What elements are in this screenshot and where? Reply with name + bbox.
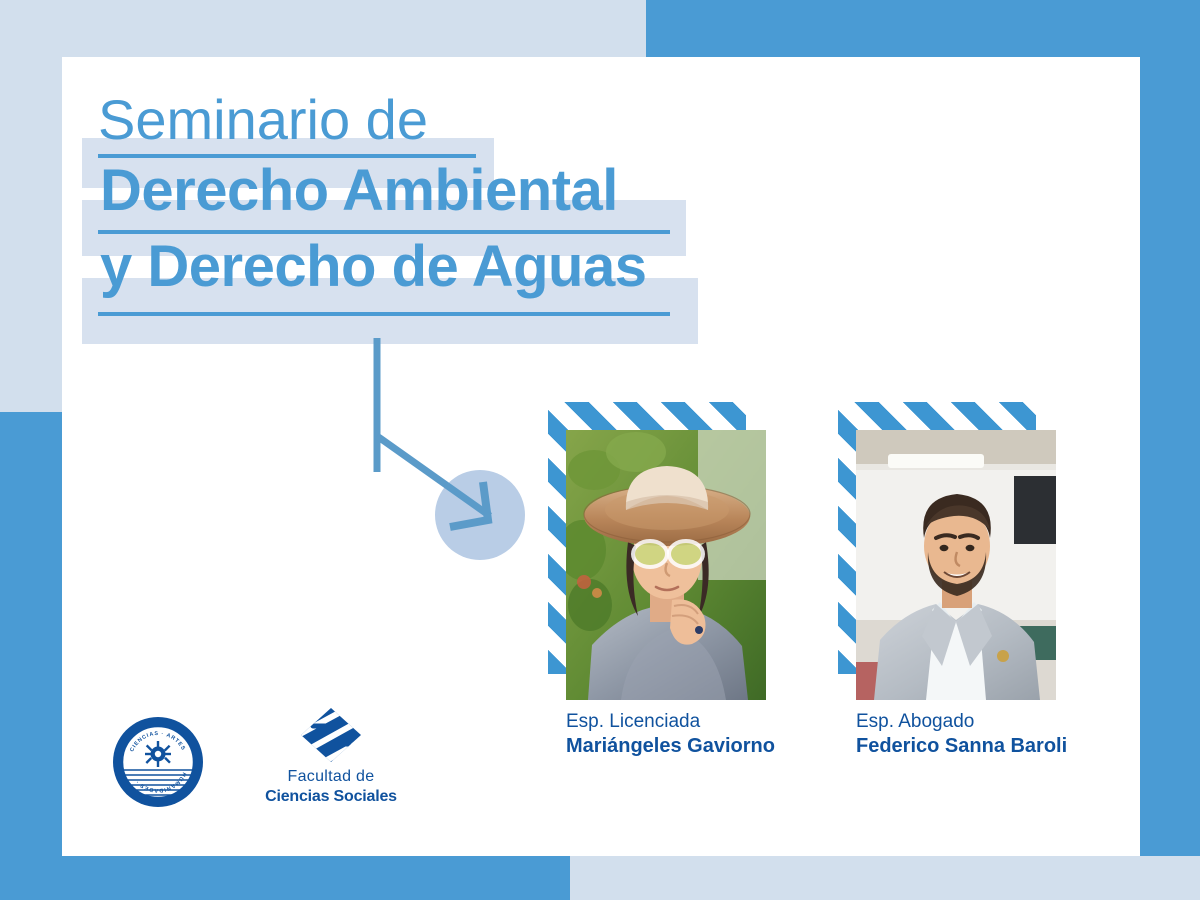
faculty-logo-line-1: Facultad de [262, 768, 400, 786]
down-right-arrow-icon [355, 330, 535, 570]
faculty-logo-line-2: Ciencias Sociales [262, 788, 400, 806]
poster-canvas: Seminario de Derecho Ambiental y Derecho… [0, 0, 1200, 900]
decor-block-right [1140, 0, 1200, 856]
title-underline-3 [98, 312, 670, 316]
decor-block-bottom-left [0, 856, 570, 900]
title-line-2-text: Derecho Ambiental [100, 162, 618, 220]
speaker-caption: Esp. Abogado Federico Sanna Baroli [856, 710, 1116, 759]
speaker-role: Esp. Abogado [856, 710, 1116, 734]
speaker-photo [566, 430, 766, 700]
title-line-3-text: y Derecho de Aguas [100, 238, 646, 296]
faculty-logo: Facultad de Ciencias Sociales [262, 706, 400, 806]
speaker-name: Federico Sanna Baroli [856, 734, 1116, 759]
title-line-2: Derecho Ambiental [88, 162, 606, 242]
speaker-caption: Esp. Licenciada Mariángeles Gaviorno [566, 710, 826, 759]
faculty-diamond-mark-icon [299, 706, 363, 764]
title-line-1-text: Seminario de [98, 92, 428, 148]
university-seal-icon: CIENCIAS · ARTES HUMANIDADES · [110, 714, 206, 810]
speaker-photo [856, 430, 1056, 700]
title-line-3: y Derecho de Aguas [88, 238, 634, 328]
decor-block-top-right [646, 0, 1200, 57]
title-line-1: Seminario de [88, 92, 418, 166]
speaker-role: Esp. Licenciada [566, 710, 826, 734]
speaker-name: Mariángeles Gaviorno [566, 734, 826, 759]
decor-block-left-bottom [0, 412, 62, 900]
